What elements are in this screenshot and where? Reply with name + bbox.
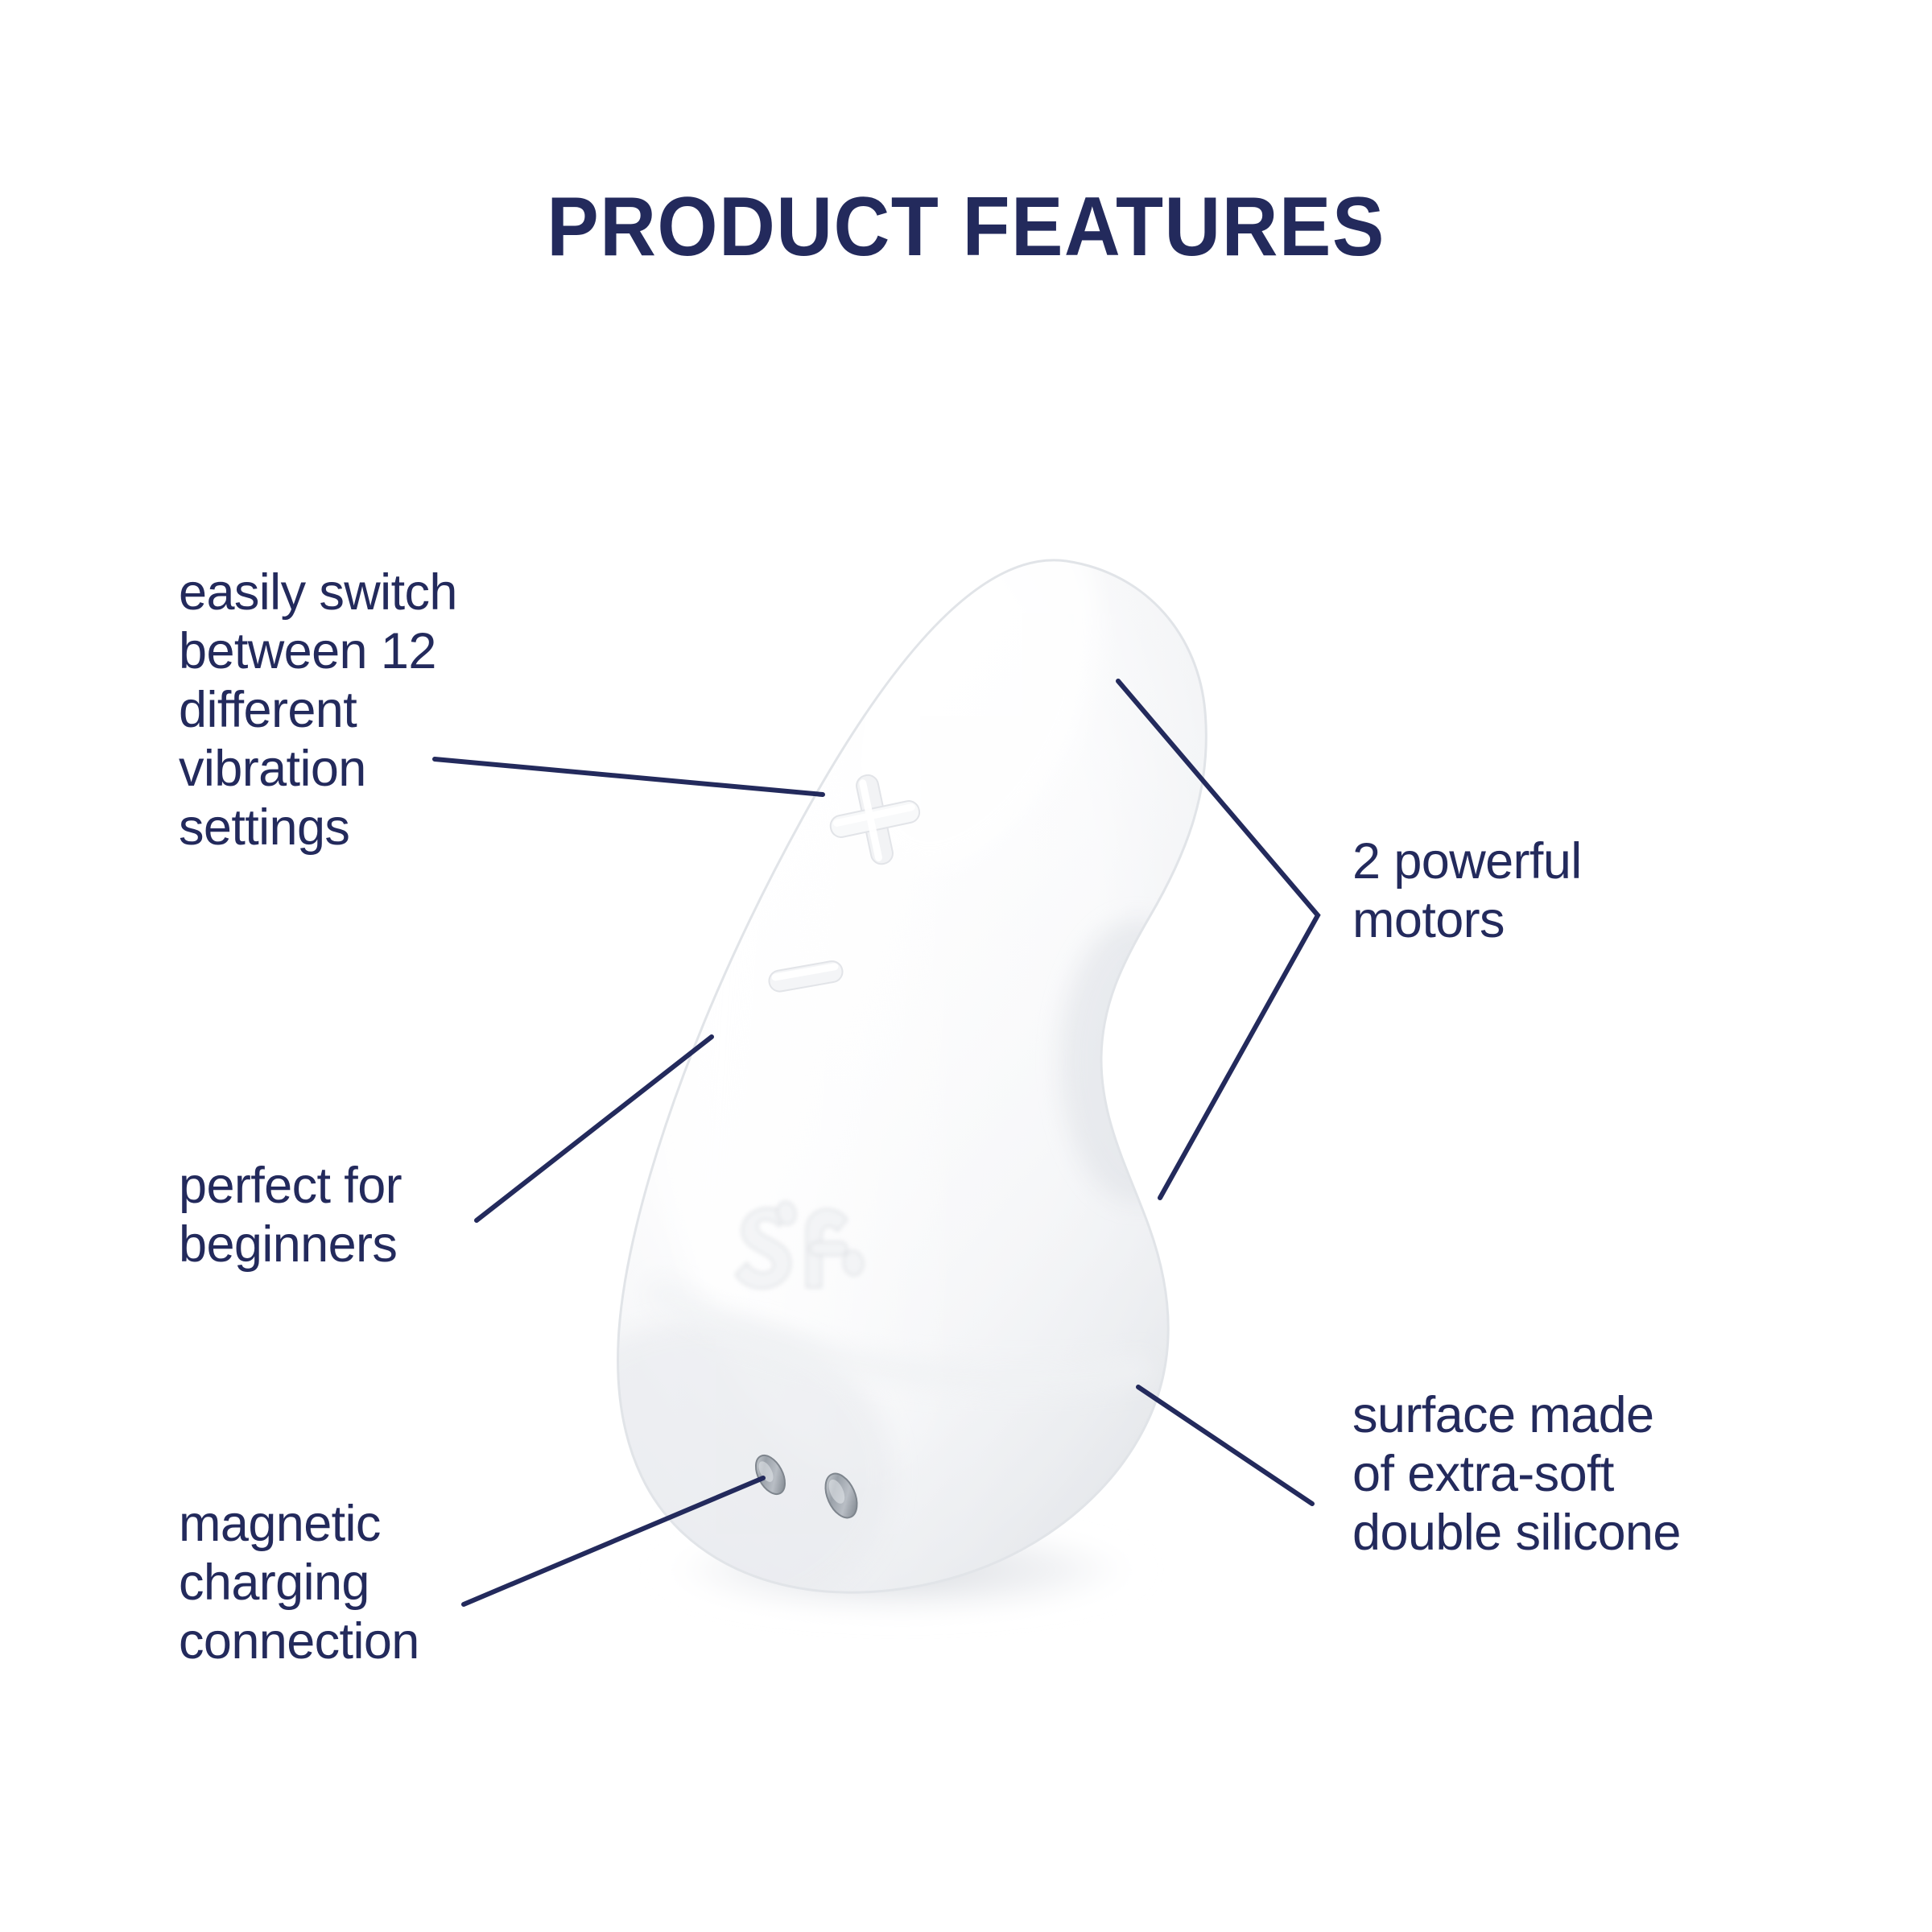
callout-label-settings: easily switch between 12 different vibra… [179, 563, 597, 857]
product-base-shadow [652, 1521, 1151, 1618]
callout-label-charging: magnetic charging connection [179, 1495, 597, 1671]
callout-label-beginners: perfect for beginners [179, 1157, 597, 1274]
minus-icon[interactable] [767, 960, 844, 993]
leader-line-silicone [1138, 1387, 1312, 1504]
plus-icon[interactable] [822, 766, 929, 873]
product-illustration [523, 481, 1288, 1650]
leader-line-motors [1118, 681, 1318, 1198]
product-body [618, 560, 1207, 1592]
product-outline [618, 560, 1207, 1592]
product-features-infographic: PRODUCT FEATURES [0, 0, 1932, 1932]
page-title: PRODUCT FEATURES [68, 184, 1864, 271]
satisfyer-sf-logo-icon [736, 1200, 865, 1288]
callout-label-silicone: surface made of extra-soft double silico… [1352, 1386, 1851, 1563]
magnetic-contact-icon [750, 1451, 864, 1522]
callout-label-motors: 2 powerful motors [1352, 832, 1803, 950]
